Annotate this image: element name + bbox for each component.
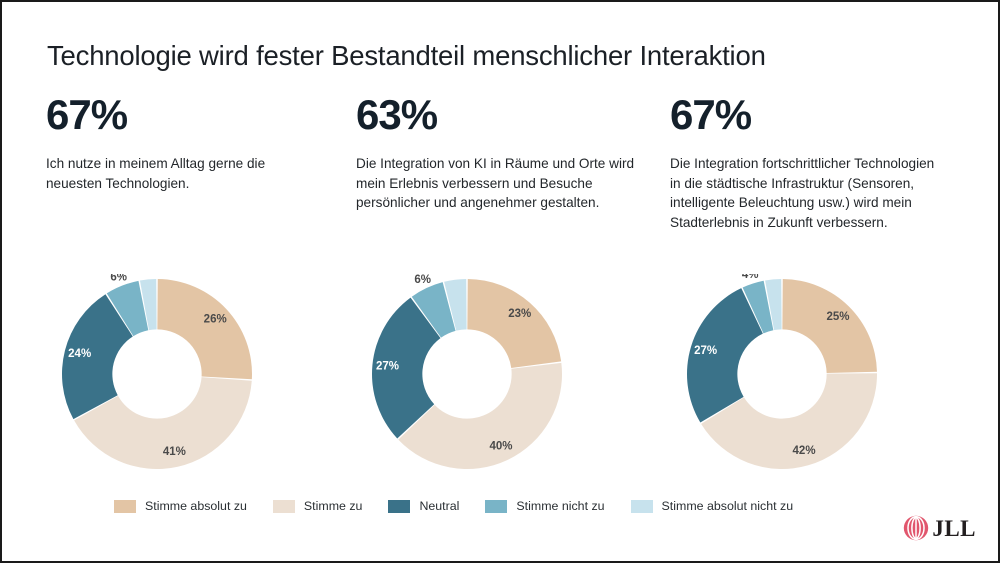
infographic-canvas: Technologie wird fester Bestandteil mens… (0, 0, 1000, 563)
donut-slice-label: 6% (414, 274, 431, 286)
legend-label: Stimme absolut zu (145, 499, 247, 513)
stat-description: Ich nutze in meinem Alltag gerne die neu… (46, 154, 318, 193)
legend-swatch-icon (631, 500, 653, 513)
legend-label: Stimme absolut nicht zu (662, 499, 794, 513)
legend-swatch-icon (485, 500, 507, 513)
donut-chart-1: 26%41%24%6%3% (57, 274, 257, 474)
legend-swatch-icon (388, 500, 410, 513)
donut-slice-label: 25% (826, 311, 849, 323)
donut-chart-2: 23%40%27%6%4% (367, 274, 567, 474)
donut-slice-label: 27% (376, 361, 399, 373)
donut-slice (782, 279, 877, 373)
donut-slice-label: 4% (446, 274, 463, 277)
legend-label: Neutral (419, 499, 459, 513)
donut-slice-label: 27% (694, 345, 717, 357)
stat-description: Die Integration von KI in Räume und Orte… (356, 154, 636, 213)
donut-slice (157, 279, 252, 379)
legend-item-stimme-absolut-zu: Stimme absolut zu (114, 499, 247, 513)
legend-label: Stimme zu (304, 499, 363, 513)
donut-slice-label: 3% (764, 274, 781, 276)
jll-logo: JLL (903, 515, 976, 541)
donut-chart-3-svg: 25%42%27%4%3% (682, 274, 882, 474)
jll-logo-text: JLL (932, 517, 976, 540)
stat-column-3: 67% Die Integration fortschrittlicher Te… (670, 90, 940, 232)
legend-swatch-icon (273, 500, 295, 513)
legend-swatch-icon (114, 500, 136, 513)
donut-chart-2-svg: 23%40%27%6%4% (367, 274, 567, 474)
chart-legend: Stimme absolut zu Stimme zu Neutral Stim… (114, 499, 819, 513)
legend-item-stimme-absolut-nicht-zu: Stimme absolut nicht zu (631, 499, 794, 513)
donut-slice (398, 363, 562, 469)
donut-slice-label: 23% (508, 308, 531, 320)
stat-value: 67% (670, 90, 940, 140)
stat-column-2: 63% Die Integration von KI in Räume und … (356, 90, 636, 213)
donut-slice-label: 42% (793, 445, 816, 457)
legend-item-stimme-nicht-zu: Stimme nicht zu (485, 499, 604, 513)
donut-chart-1-svg: 26%41%24%6%3% (57, 274, 257, 474)
jll-circular-emblem-icon (903, 515, 929, 541)
donut-slice-label: 41% (163, 446, 186, 458)
donut-slice-label: 24% (68, 348, 91, 360)
donut-chart-3: 25%42%27%4%3% (682, 274, 882, 474)
stat-description: Die Integration fortschrittlicher Techno… (670, 154, 940, 232)
donut-slice-label: 3% (139, 274, 156, 276)
legend-label: Stimme nicht zu (516, 499, 604, 513)
stat-value: 67% (46, 90, 318, 140)
legend-item-stimme-zu: Stimme zu (273, 499, 363, 513)
donut-slice (467, 279, 561, 368)
stat-value: 63% (356, 90, 636, 140)
donut-slice-label: 26% (204, 313, 227, 325)
legend-item-neutral: Neutral (388, 499, 459, 513)
donut-slice-label: 40% (489, 440, 512, 452)
page-title: Technologie wird fester Bestandteil mens… (47, 40, 766, 72)
donut-slice-label: 4% (742, 274, 759, 281)
stat-column-1: 67% Ich nutze in meinem Alltag gerne die… (46, 90, 318, 193)
donut-slice-label: 6% (110, 274, 127, 283)
